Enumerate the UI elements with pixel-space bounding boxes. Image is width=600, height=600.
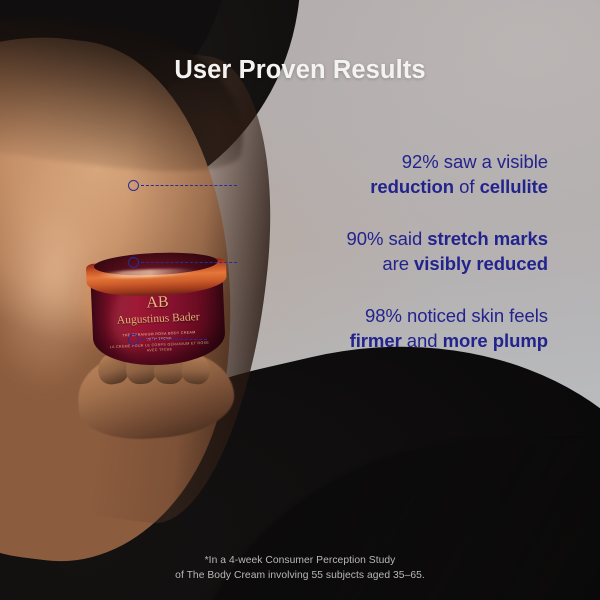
- claim-line-1: 98% noticed skin feels: [350, 304, 548, 329]
- claim-emphasis: more plump: [443, 330, 548, 351]
- claim-line-1: 90% said stretch marks: [347, 227, 549, 252]
- claim-line-1: 92% saw a visible: [370, 150, 548, 175]
- footnote-line-2: of The Body Cream involving 55 subjects …: [0, 568, 600, 584]
- claim-text-firmer-plumper: 98% noticed skin feels firmer and more p…: [350, 304, 548, 353]
- page-title: User Proven Results: [0, 56, 600, 85]
- claim-emphasis: stretch marks: [427, 228, 548, 249]
- claims-list: 92% saw a visible reduction of cellulite…: [128, 150, 548, 354]
- claim-line-2: firmer and more plump: [350, 329, 548, 354]
- claim-emphasis: firmer: [350, 330, 402, 351]
- claim-emphasis: reduction: [370, 176, 454, 197]
- claim-plain: and: [402, 330, 443, 351]
- claim-item-cellulite: 92% saw a visible reduction of cellulite: [128, 150, 548, 199]
- leader-cellulite: [128, 179, 237, 191]
- leader-dot-icon: [128, 334, 139, 345]
- claim-text-cellulite: 92% saw a visible reduction of cellulite: [370, 150, 548, 199]
- claim-item-firmer-plumper: 98% noticed skin feels firmer and more p…: [128, 304, 548, 353]
- claim-plain: of: [454, 176, 480, 197]
- claim-line-2: reduction of cellulite: [370, 175, 548, 200]
- leader-dashed-line: [141, 262, 237, 263]
- claim-plain: 90% said: [347, 228, 428, 249]
- leader-stretch-marks: [128, 256, 237, 268]
- marketing-image: AB Augustinus Bader THE GERANIUM ROSA BO…: [0, 0, 600, 600]
- claim-emphasis: visibly reduced: [414, 253, 548, 274]
- claim-plain: are: [382, 253, 414, 274]
- leader-dot-icon: [128, 180, 139, 191]
- claim-text-stretch-marks: 90% said stretch marks are visibly reduc…: [347, 227, 549, 276]
- leader-firmer-plumper: [128, 334, 207, 346]
- leader-dashed-line: [141, 185, 237, 186]
- claim-item-stretch-marks: 90% said stretch marks are visibly reduc…: [128, 227, 548, 276]
- claim-emphasis: cellulite: [480, 176, 548, 197]
- footnote-line-1: *In a 4-week Consumer Perception Study: [0, 553, 600, 569]
- claim-line-2: are visibly reduced: [347, 252, 549, 277]
- leader-dashed-line: [141, 339, 207, 340]
- footnote: *In a 4-week Consumer Perception Study o…: [0, 553, 600, 584]
- leader-dot-icon: [128, 257, 139, 268]
